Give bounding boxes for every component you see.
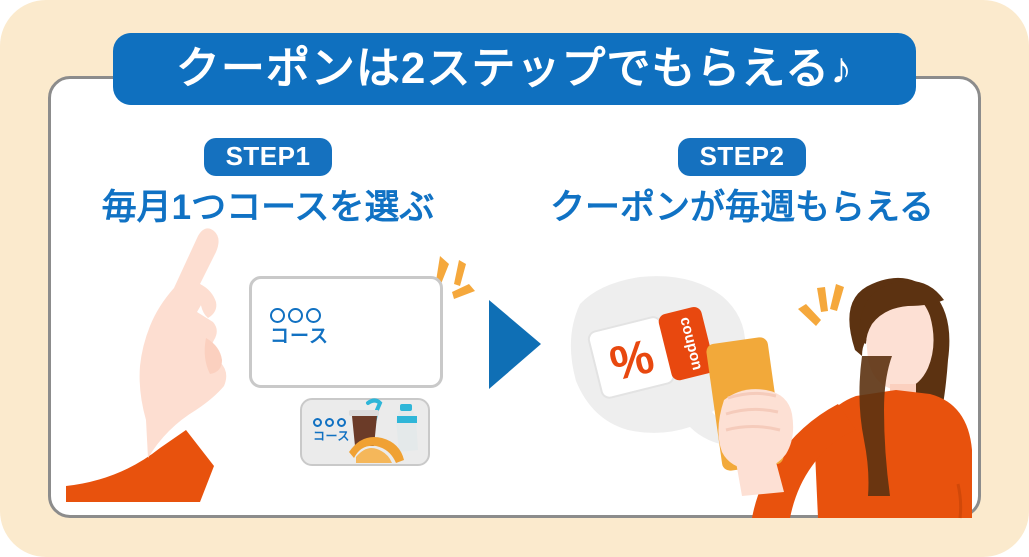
course-card-primary[interactable]: コース — [249, 276, 443, 388]
back-card-items — [349, 401, 418, 464]
course-card-primary-label: コース — [270, 308, 329, 348]
head-sparkle-3 — [830, 284, 844, 311]
pointing-hand-illustration — [66, 228, 226, 502]
water-bottle — [396, 404, 418, 452]
step1-chip: STEP1 — [204, 138, 333, 176]
sparkle-ray-3 — [452, 284, 475, 299]
course-dot-icon — [306, 308, 321, 323]
step1-title: 毎月1つコースを選ぶ — [48, 189, 488, 228]
small-cup-lid — [349, 410, 379, 416]
course-dots-primary — [270, 308, 329, 323]
course-text-primary: コース — [270, 326, 329, 347]
step1-heading-group: STEP1 毎月1つコースを選ぶ — [48, 138, 488, 228]
step2-chip: STEP2 — [678, 138, 807, 176]
step2-heading-group: STEP2 クーポンが毎週もらえる — [512, 138, 972, 228]
banner-title-text: クーポンは2ステップでもらえる♪ — [176, 47, 853, 91]
banner-title-badge: クーポンは2ステップでもらえる♪ — [113, 33, 916, 105]
arrow-triangle — [489, 300, 541, 389]
hand-knuckle-shading — [200, 284, 217, 318]
right-arrow — [489, 300, 541, 389]
infographic-canvas: クーポンは2ステップでもらえる♪ STEP1 毎月1つコースを選ぶ STEP2 … — [0, 0, 1029, 557]
step2-sparkles — [798, 284, 844, 326]
head-sparkle-1 — [798, 304, 821, 326]
bottle-label — [397, 416, 417, 423]
bottle-cap — [400, 404, 412, 411]
sleeve-shape — [66, 430, 214, 502]
hand-shape — [140, 228, 227, 458]
sparkle-ray-2 — [454, 260, 466, 286]
woman-illustration — [705, 278, 972, 518]
course-dot-icon — [270, 308, 285, 323]
step2-title: クーポンが毎週もらえる — [512, 189, 972, 228]
head-sparkle-2 — [817, 287, 828, 312]
wrist-shape — [736, 462, 784, 496]
course-dot-icon — [288, 308, 303, 323]
